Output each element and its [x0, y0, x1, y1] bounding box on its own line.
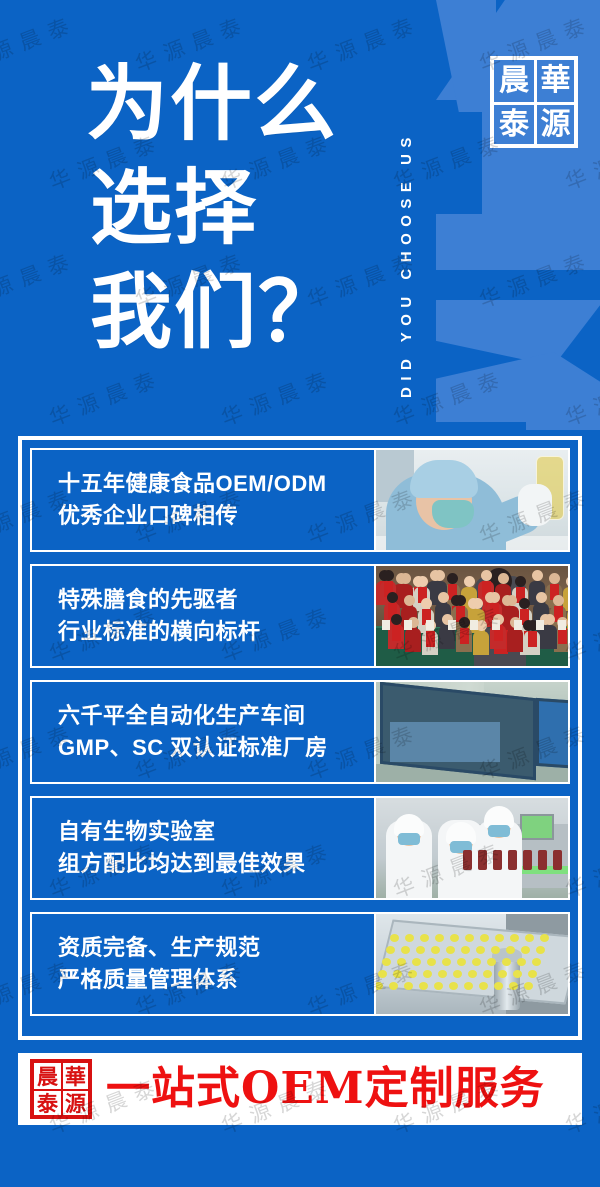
- table-cup: [536, 620, 544, 630]
- table-cup: [448, 620, 456, 630]
- crowd-person-head: [417, 576, 428, 587]
- yellow-tablet: [461, 946, 470, 954]
- crowd-person-head: [532, 570, 543, 581]
- headline-line-2: 选择: [86, 156, 342, 260]
- crowd-person-head: [472, 598, 483, 609]
- yellow-tablet: [472, 958, 481, 966]
- yellow-tablet: [521, 946, 530, 954]
- product-bottle: [493, 850, 502, 870]
- crowd-person-head: [515, 576, 526, 587]
- feature-photo-tablets: [376, 912, 570, 1016]
- product-bottle: [508, 850, 517, 870]
- yellow-tablet: [420, 934, 429, 942]
- watermark-text: 华源晨泰: [0, 7, 81, 78]
- seal-char-2: 華: [61, 1063, 88, 1089]
- seal-char-4: 源: [61, 1089, 88, 1115]
- table-cup: [404, 620, 412, 630]
- yellow-tablet: [528, 970, 537, 978]
- crowd-person-head: [464, 576, 475, 587]
- bottom-cta-text: 一站式OEM定制服务: [106, 1067, 545, 1111]
- red-scarf: [460, 628, 469, 644]
- feature-card-text: 六千平全自动化生产车间 GMP、SC 双认证标准厂房: [30, 680, 376, 784]
- crowd-person: [405, 628, 421, 652]
- feature-card: 自有生物实验室 组方配比均达到最佳效果: [30, 796, 570, 900]
- brand-seal-logo-top: 晨 華 泰 源: [490, 56, 578, 148]
- yellow-tablet: [416, 946, 425, 954]
- yellow-tablet: [513, 970, 522, 978]
- feature-line-1: 特殊膳食的先驱者: [58, 584, 374, 616]
- yellow-tablet: [405, 934, 414, 942]
- table-cup: [382, 620, 390, 630]
- vertical-english-subtitle: DID YOU CHOOSE US: [398, 18, 428, 398]
- yellow-tablet: [453, 970, 462, 978]
- yellow-tablet: [442, 958, 451, 966]
- yellow-tablet: [517, 958, 526, 966]
- watermark-text: 华源晨泰: [217, 361, 340, 432]
- crowd-person-head: [438, 592, 449, 603]
- worker-face-mask: [488, 825, 510, 837]
- yellow-tablet: [510, 934, 519, 942]
- crowd-person-head: [536, 592, 547, 603]
- yellow-tablet: [495, 934, 504, 942]
- red-scarf: [392, 625, 401, 641]
- feature-photo-cleanroom: [376, 680, 570, 784]
- table-cup: [426, 620, 434, 630]
- yellow-tablet: [446, 946, 455, 954]
- crowd-person-head: [549, 573, 560, 584]
- seal-char-3: 泰: [494, 102, 534, 144]
- yellow-tablet: [390, 934, 399, 942]
- yellow-tablet: [450, 934, 459, 942]
- crowd-person-head: [459, 617, 470, 628]
- yellow-tablet: [457, 958, 466, 966]
- feature-line-1: 资质完备、生产规范: [58, 932, 374, 964]
- product-bottle: [538, 850, 547, 870]
- yellow-tablet: [479, 982, 488, 990]
- yellow-tablet: [540, 934, 549, 942]
- feature-line-2: 组方配比均达到最佳效果: [58, 848, 374, 880]
- table-cup: [492, 620, 500, 630]
- yellow-tablet: [386, 946, 395, 954]
- feature-line-1: 十五年健康食品OEM/ODM: [58, 468, 374, 500]
- crowd-person: [507, 628, 523, 652]
- crowd-person-head: [383, 570, 394, 581]
- crowd-person-head: [481, 570, 492, 581]
- yellow-tablet: [480, 934, 489, 942]
- crowd-person-head: [553, 595, 564, 606]
- feature-photo-production-line: [376, 796, 570, 900]
- headline-line-3: 我们？: [86, 260, 342, 364]
- feature-card-text: 资质完备、生产规范 严格质量管理体系: [30, 912, 376, 1016]
- yellow-tablet: [438, 970, 447, 978]
- table-cup: [470, 620, 478, 630]
- crowd-person-head: [519, 598, 530, 609]
- table-cup: [514, 620, 522, 630]
- feature-line-2: 严格质量管理体系: [58, 964, 374, 996]
- yellow-tablet: [509, 982, 518, 990]
- yellow-tablet: [434, 982, 443, 990]
- yellow-tablet: [476, 946, 485, 954]
- feature-line-2: GMP、SC 双认证标准厂房: [58, 732, 374, 764]
- feature-cards-frame: 十五年健康食品OEM/ODM 优秀企业口碑相传 特殊膳食: [18, 436, 582, 1040]
- crowd-person-head: [506, 595, 517, 606]
- yellow-tablet: [468, 970, 477, 978]
- red-scarf: [558, 628, 567, 644]
- red-scarf: [426, 631, 435, 647]
- product-bottle: [553, 850, 562, 870]
- watermark-text: 华源晨泰: [45, 361, 168, 432]
- yellow-tablet: [419, 982, 428, 990]
- product-bottle: [523, 850, 532, 870]
- yellow-tablet: [483, 970, 492, 978]
- yellow-tablet: [401, 946, 410, 954]
- worker-face-mask: [398, 833, 420, 845]
- yellow-tablet: [389, 982, 398, 990]
- yellow-tablet: [435, 934, 444, 942]
- yellow-tablet: [423, 970, 432, 978]
- crowd-person-head: [387, 592, 398, 603]
- feature-line-1: 自有生物实验室: [58, 816, 374, 848]
- crowd-person-head: [391, 614, 402, 625]
- feature-card-text: 十五年健康食品OEM/ODM 优秀企业口碑相传: [30, 448, 376, 552]
- watermark-text: 华源晨泰: [0, 243, 81, 314]
- crowd-person-head: [489, 592, 500, 603]
- why-choose-us-poster: 为什么 选择 我们？ DID YOU CHOOSE US 晨 華 泰 源 十五年…: [0, 0, 600, 1187]
- page-title: 为什么 选择 我们？: [86, 52, 342, 364]
- yellow-tablet: [382, 958, 391, 966]
- crowd-person-head: [447, 573, 458, 584]
- yellow-tablet: [498, 970, 507, 978]
- crowd-person-head: [421, 598, 432, 609]
- yellow-tablet: [397, 958, 406, 966]
- yellow-tablet: [404, 982, 413, 990]
- yellow-tablet: [465, 934, 474, 942]
- yellow-tablet: [393, 970, 402, 978]
- yellow-tablet: [506, 946, 515, 954]
- seal-char-3: 泰: [34, 1089, 61, 1115]
- crowd-person-head: [498, 573, 509, 584]
- seal-char-1: 晨: [494, 60, 534, 102]
- feature-line-1: 六千平全自动化生产车间: [58, 700, 374, 732]
- table-cup: [558, 620, 566, 630]
- feature-photo-conference: [376, 564, 570, 668]
- crowd-person: [473, 631, 489, 655]
- yellow-tablet: [525, 934, 534, 942]
- seal-char-1: 晨: [34, 1063, 61, 1089]
- feature-card-text: 特殊膳食的先驱者 行业标准的横向标杆: [30, 564, 376, 668]
- feature-card: 资质完备、生产规范 严格质量管理体系: [30, 912, 570, 1016]
- brand-seal-logo-bottom: 晨 華 泰 源: [30, 1059, 92, 1119]
- yellow-tablet: [431, 946, 440, 954]
- yellow-tablet: [494, 982, 503, 990]
- feature-card: 六千平全自动化生产车间 GMP、SC 双认证标准厂房: [30, 680, 570, 784]
- product-bottle: [463, 850, 472, 870]
- yellow-tablet: [532, 958, 541, 966]
- yellow-tablet: [408, 970, 417, 978]
- yellow-tablet: [502, 958, 511, 966]
- seal-char-2: 華: [534, 60, 574, 102]
- bottom-cta-banner: 晨 華 泰 源 一站式OEM定制服务: [18, 1053, 582, 1125]
- feature-card-text: 自有生物实验室 组方配比均达到最佳效果: [30, 796, 376, 900]
- feature-photo-lab-worker: [376, 448, 570, 552]
- crowd-person-head: [455, 595, 466, 606]
- crowd-person-head: [400, 573, 411, 584]
- yellow-tablet: [427, 958, 436, 966]
- crowd-person-head: [566, 576, 570, 587]
- feature-card: 特殊膳食的先驱者 行业标准的横向标杆: [30, 564, 570, 668]
- yellow-tablet: [491, 946, 500, 954]
- crowd-person-head: [434, 570, 445, 581]
- feature-line-2: 优秀企业口碑相传: [58, 500, 374, 532]
- yellow-tablet: [487, 958, 496, 966]
- yellow-tablet: [378, 970, 387, 978]
- seal-char-4: 源: [534, 102, 574, 144]
- headline-line-1: 为什么: [86, 52, 342, 156]
- crowd-person-head: [404, 595, 415, 606]
- watermark-text: 华源晨泰: [561, 361, 600, 432]
- feature-card: 十五年健康食品OEM/ODM 优秀企业口碑相传: [30, 448, 570, 552]
- yellow-tablet: [412, 958, 421, 966]
- yellow-tablet: [449, 982, 458, 990]
- product-bottle: [478, 850, 487, 870]
- yellow-tablet: [464, 982, 473, 990]
- feature-line-2: 行业标准的横向标杆: [58, 616, 374, 648]
- yellow-tablet: [524, 982, 533, 990]
- yellow-tablet: [536, 946, 545, 954]
- red-scarf: [528, 631, 537, 647]
- watermark-text: 华源晨泰: [475, 243, 598, 314]
- yellow-tablet: [376, 982, 383, 990]
- crowd-person-head: [544, 614, 555, 625]
